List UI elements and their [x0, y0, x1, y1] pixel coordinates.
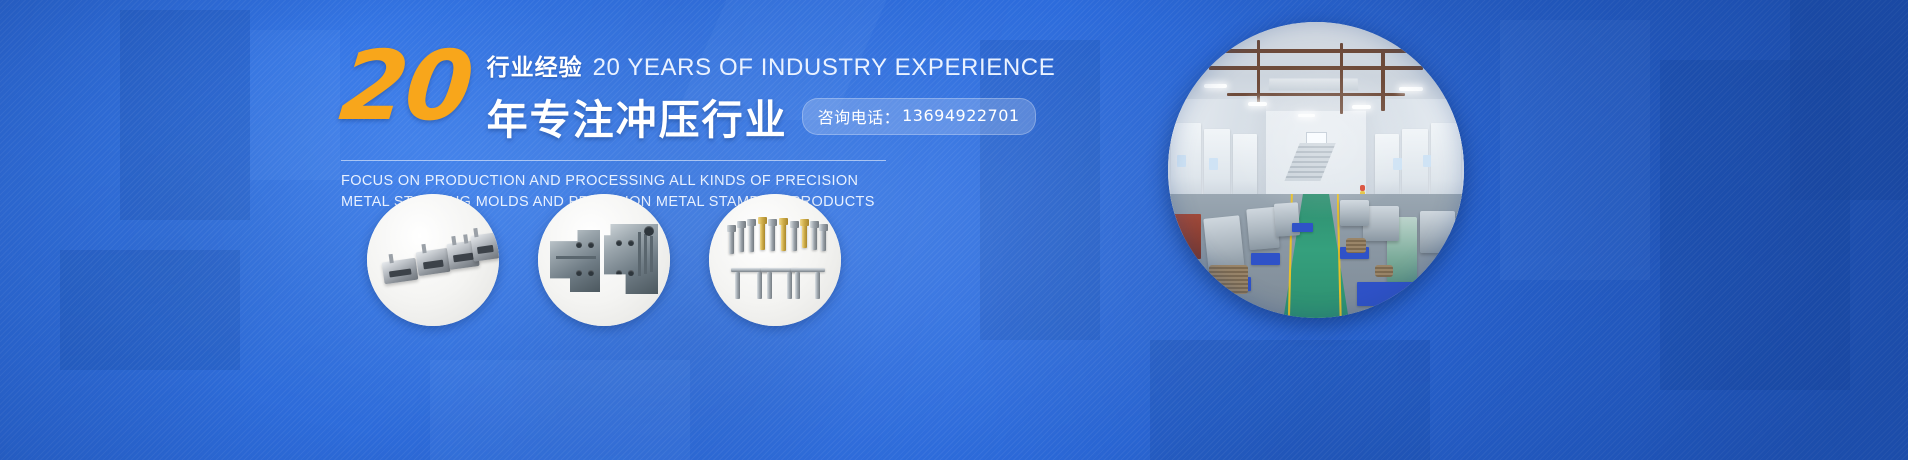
- terminal-pin: [781, 221, 786, 251]
- consult-phone-label: 咨询电话：: [818, 104, 901, 128]
- photo-backdrop: [709, 194, 841, 326]
- connector-part: [382, 258, 419, 285]
- terminal-pin: [792, 224, 797, 251]
- terminal-pin: [767, 272, 772, 299]
- consult-phone-badge[interactable]: 咨询电话： 13694922701: [802, 98, 1036, 135]
- headline-divider: [341, 160, 886, 161]
- metal-terminals-photo: [709, 194, 841, 326]
- terminal-pin: [815, 272, 820, 299]
- usb-connectors-photo: [367, 194, 499, 326]
- focus-stamping-cn-headline: 年专注冲压行业: [487, 86, 788, 146]
- consult-phone-number: 13694922701: [902, 106, 1019, 125]
- promo-banner: 20 行业经验 20 YEARS OF INDUSTRY EXPERIENCE …: [0, 0, 1908, 460]
- industry-experience-cn-label: 行业经验: [487, 48, 583, 82]
- headline-line-two: 年专注冲压行业 咨询电话： 13694922701: [487, 86, 1056, 146]
- terminal-pin: [821, 227, 826, 251]
- terminal-pin: [735, 272, 740, 299]
- terminal-pin: [760, 220, 765, 250]
- connector-part: [415, 248, 450, 276]
- terminal-pin: [729, 228, 734, 254]
- stamping-mold-photo: [538, 194, 670, 326]
- terminal-pin: [812, 224, 817, 250]
- headline-row: 20 行业经验 20 YEARS OF INDUSTRY EXPERIENCE …: [341, 44, 961, 146]
- terminal-pin: [739, 224, 744, 252]
- banner-copy-block: 20 行业经验 20 YEARS OF INDUSTRY EXPERIENCE …: [341, 44, 961, 212]
- headline-text-group: 行业经验 20 YEARS OF INDUSTRY EXPERIENCE 年专注…: [487, 44, 1056, 146]
- terminal-pin: [749, 222, 754, 252]
- terminal-pin: [802, 222, 807, 248]
- industry-experience-en-label: 20 YEARS OF INDUSTRY EXPERIENCE: [593, 54, 1056, 82]
- terminal-pin: [757, 272, 762, 299]
- years-number: 20: [337, 46, 475, 127]
- terminal-pin: [787, 272, 792, 299]
- terminal-pin: [795, 272, 800, 299]
- terminal-pin: [770, 222, 775, 251]
- headline-line-one: 行业经验 20 YEARS OF INDUSTRY EXPERIENCE: [487, 48, 1056, 82]
- connector-part: [470, 232, 499, 261]
- factory-workshop-photo: [1168, 22, 1464, 318]
- photo-edge-shadow: [1168, 22, 1464, 318]
